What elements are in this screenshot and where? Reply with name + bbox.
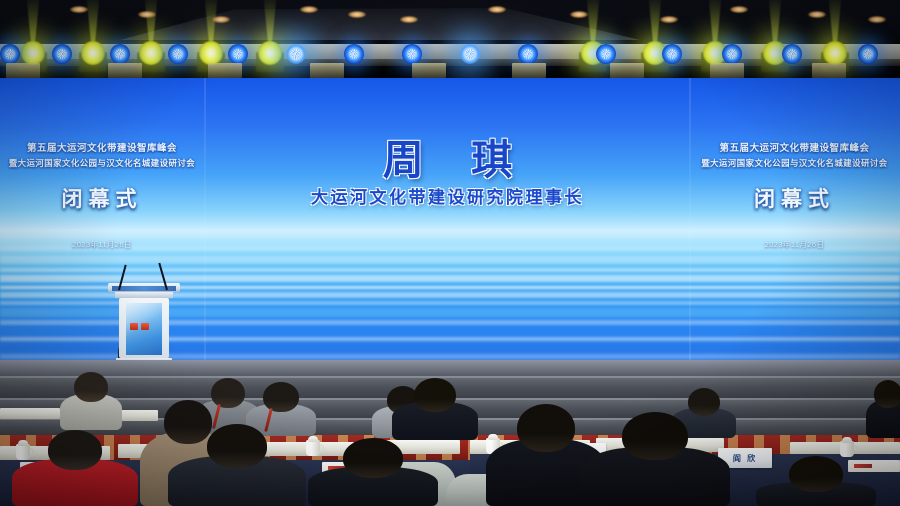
left-panel-date: 2023年11月26日 [0, 239, 204, 250]
ceiling-downlight-10 [730, 6, 748, 13]
par-led-light-15 [858, 44, 878, 64]
right-panel-date: 2023年11月26日 [689, 239, 900, 250]
left-panel-headline: 闭幕式 [0, 183, 204, 213]
ceiling-downlight-8 [570, 11, 588, 18]
audience-person-front-red [12, 430, 138, 506]
truss-gel-box-8 [710, 63, 744, 78]
par-led-light-14 [782, 44, 802, 64]
audience-person-back-5 [392, 378, 478, 440]
spotlight-mover-5 [255, 38, 285, 68]
lectern [108, 283, 180, 365]
par-led-light-10 [518, 44, 538, 64]
screen-panel-right: 第五届大运河文化带建设智库峰会 暨大运河国家文化公园与汉文化名城建设研讨会 闭幕… [689, 78, 900, 360]
ceiling-downlight-4 [300, 6, 318, 13]
right-panel-line1: 第五届大运河文化带建设智库峰会 [689, 140, 900, 154]
ceiling-downlight-2 [138, 11, 156, 18]
conference-stage-photo: 第五届大运河文化带建设智库峰会 暨大运河国家文化公园与汉文化名城建设研讨会 闭幕… [0, 0, 900, 506]
spotlight-mover-2 [78, 38, 108, 68]
par-led-light-7 [344, 44, 364, 64]
par-led-light-3 [110, 44, 130, 64]
person-head [48, 430, 102, 470]
ceiling-downlight-3 [212, 16, 230, 23]
ceiling-downlight-1 [70, 6, 88, 13]
truss-gel-box-9 [812, 63, 846, 78]
left-panel-line1: 第五届大运河文化带建设智库峰会 [0, 140, 204, 154]
par-led-light-4 [168, 44, 188, 64]
ceiling-downlight-7 [488, 6, 506, 13]
truss-gel-box-6 [512, 63, 546, 78]
screen-panel-center: 周 琪 大运河文化带建设研究院理事长 [205, 78, 690, 360]
person-head [517, 404, 575, 452]
audience-person-front-dark [168, 424, 306, 506]
truss-gel-box-7 [610, 63, 644, 78]
truss-gel-box-3 [208, 63, 242, 78]
par-led-light-9 [460, 44, 480, 64]
ceiling-soffit [120, 6, 640, 40]
speaker-name: 周 琪 [205, 126, 690, 186]
par-led-light-12 [662, 44, 682, 64]
tea-mug-3 [840, 441, 854, 457]
par-led-light-8 [402, 44, 422, 64]
par-led-light-2 [52, 44, 72, 64]
audience-person-back-1 [60, 372, 122, 430]
lectern-emblem-right [141, 323, 149, 330]
right-panel-headline: 闭幕式 [689, 183, 900, 213]
audience-person-front-right [580, 412, 730, 506]
par-led-light-6 [286, 44, 306, 64]
audience-person-back-7 [866, 380, 900, 438]
audience-person-front-far-right [756, 456, 876, 506]
par-led-light-1 [0, 44, 20, 64]
left-panel-line2: 暨大运河国家文化公园与汉文化名城建设研讨会 [0, 157, 204, 169]
person-head [622, 412, 688, 460]
audience-person-front-center [308, 438, 438, 506]
right-panel-line2: 暨大运河国家文化公园与汉文化名城建设研讨会 [689, 157, 900, 169]
person-head [207, 424, 267, 468]
ceiling-downlight-11 [808, 11, 826, 18]
stage-apron [0, 360, 900, 376]
person-head [74, 372, 108, 402]
truss-gel-box-5 [412, 63, 446, 78]
table-cloth-upper-1 [0, 408, 60, 419]
person-head [263, 382, 299, 412]
person-head [414, 378, 456, 412]
truss-gel-box-1 [6, 63, 40, 78]
ceiling-downlight-6 [400, 16, 418, 23]
speaker-title: 大运河文化带建设研究院理事长 [205, 183, 690, 208]
par-led-light-5 [228, 44, 248, 64]
lectern-emblem-left [130, 323, 138, 330]
truss-gel-box-2 [108, 63, 142, 78]
person-head [874, 380, 900, 408]
par-led-light-11 [596, 44, 616, 64]
truss-gel-box-4 [310, 63, 344, 78]
person-head [789, 456, 843, 492]
name-card-2-label: 阎 欣 [733, 453, 757, 464]
ceiling-downlight-5 [348, 11, 366, 18]
person-head [343, 438, 403, 478]
ceiling-downlight-12 [868, 16, 886, 23]
par-led-light-13 [722, 44, 742, 64]
hall-ceiling [0, 0, 900, 78]
ceiling-downlight-9 [660, 16, 678, 23]
